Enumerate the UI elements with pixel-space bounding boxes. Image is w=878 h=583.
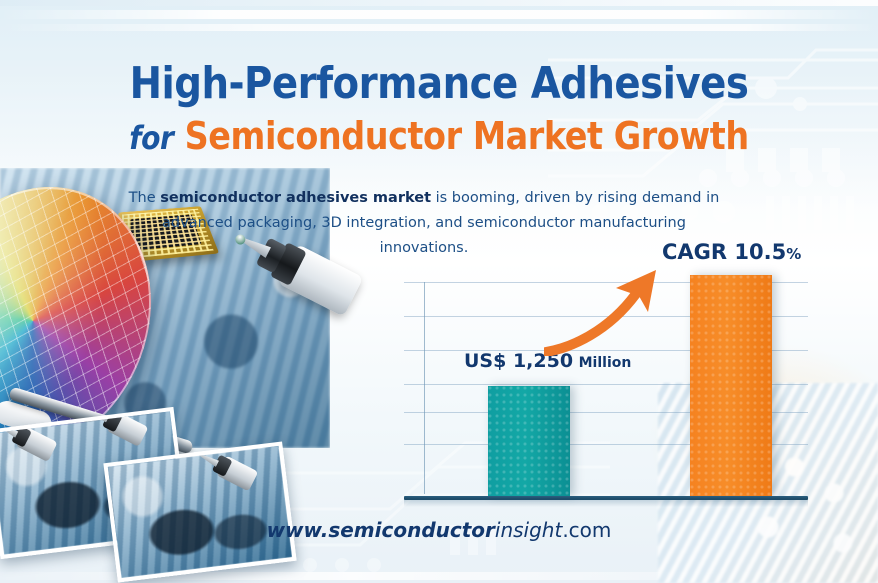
url-bold-part: www.semiconductor [267,518,495,542]
subtitle-paragraph: The semiconductor adhesives market is bo… [124,186,724,261]
bar-teal [488,386,570,496]
teal-unit: Million [579,355,632,371]
bar-orange [690,275,772,496]
orange-unit: % [786,245,801,263]
title-for-word: for [129,119,173,157]
infographic-poster: High-Performance Adhesives for Semicondu… [0,0,878,583]
page-title: High-Performance Adhesives [53,58,826,110]
bar-orange-value-label: CAGR 10.5% [662,240,801,264]
subtitle-bold: semiconductor adhesives market [160,190,431,206]
footer-url[interactable]: www.semiconductorinsight.com [0,518,878,542]
photo-tile-dispensing-b [103,441,296,582]
title-block: High-Performance Adhesives for Semicondu… [0,58,878,162]
page-subtitle-title: for Semiconductor Market Growth [53,112,826,162]
baseline-shadow [404,499,808,507]
url-tail-part: .com [562,518,611,542]
title-orange-text: Semiconductor Market Growth [185,114,749,158]
y-axis [424,282,425,494]
bar-chart: US$ 1,250 Million CAGR 10.5% [404,264,808,500]
url-mid-part: insight [495,518,562,542]
growth-arrow-icon [544,266,674,356]
subtitle-lead: The [129,190,161,206]
orange-value: CAGR 10.5 [662,240,786,264]
